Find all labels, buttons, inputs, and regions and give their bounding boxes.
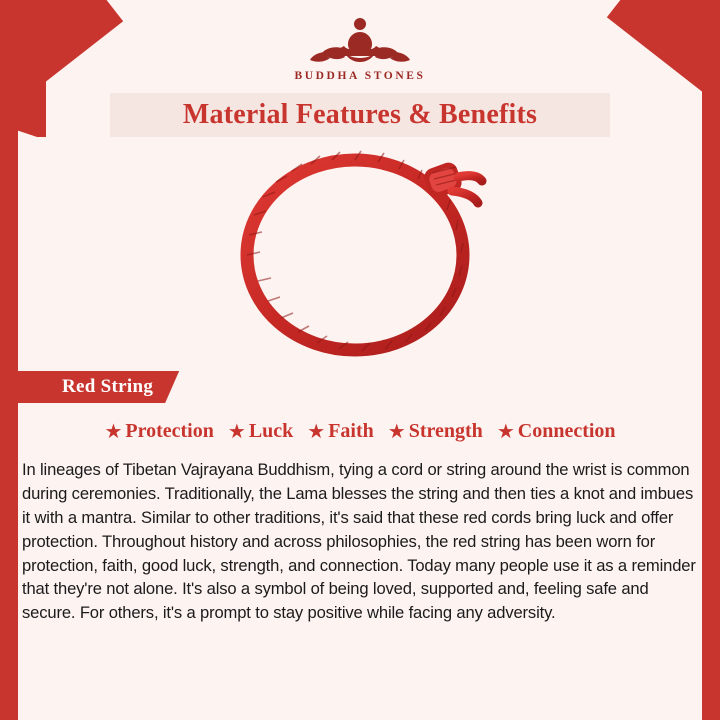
benefit-label: Protection (125, 420, 214, 443)
lotus-meditation-figure-icon (308, 12, 412, 68)
benefit-label: Luck (249, 420, 293, 443)
benefit-keyword-row: ★ Protection ★ Luck ★ Faith ★ Strength ★… (18, 420, 702, 443)
benefit-label: Faith (328, 420, 374, 443)
description-paragraph: In lineages of Tibetan Vajrayana Buddhis… (22, 458, 698, 625)
star-icon: ★ (307, 422, 325, 442)
star-icon: ★ (497, 422, 515, 442)
benefit-label: Strength (409, 420, 483, 443)
star-icon: ★ (228, 422, 246, 442)
benefit-item: ★ Luck (228, 420, 293, 443)
brand-logo: BUDDHA STONES (0, 12, 720, 82)
benefit-label: Connection (518, 420, 616, 443)
product-label: Red String (62, 376, 153, 398)
product-image (18, 137, 702, 369)
benefit-item: ★ Strength (388, 420, 483, 443)
brand-name: BUDDHA STONES (0, 70, 720, 82)
page-title: Material Features & Benefits (183, 99, 537, 131)
star-icon: ★ (104, 422, 122, 442)
benefit-item: ★ Connection (497, 420, 616, 443)
decorative-right-strip (702, 0, 720, 720)
star-icon: ★ (388, 422, 406, 442)
product-label-tab: Red String (18, 371, 179, 403)
infographic-page: BUDDHA STONES Material Features & Benefi… (0, 0, 720, 720)
benefit-item: ★ Faith (307, 420, 374, 443)
red-string-bracelet-graphic (200, 143, 520, 363)
page-title-banner: Material Features & Benefits (110, 93, 610, 137)
benefit-item: ★ Protection (104, 420, 213, 443)
